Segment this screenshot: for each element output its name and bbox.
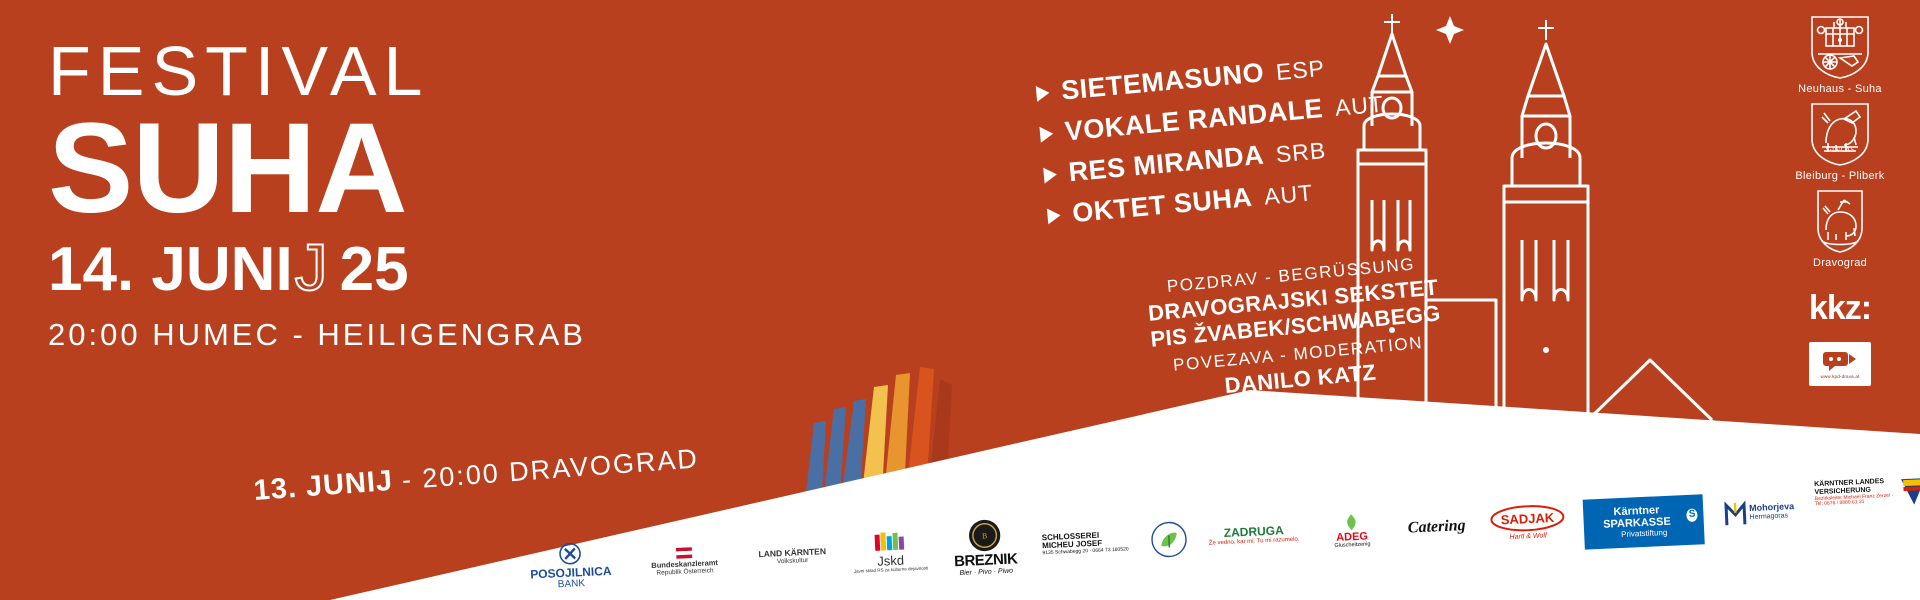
venue-line: 20:00 HUMEC - HEILIGENGRAB (48, 317, 668, 353)
sponsor-logo[interactable]: ZADRUGA Že vedno, kar mi. Tu mi razumelo… (1205, 504, 1304, 566)
artist-country: SRB (1275, 137, 1328, 168)
austria-flag-icon (676, 547, 692, 559)
sponsor-sub: Gluscheitzenig (1334, 543, 1370, 551)
sponsor-sub: Že vedno, kar mi. Tu mi razumelo. (1209, 537, 1300, 548)
second-event-date-bold: 13. JUNIJ (253, 465, 395, 508)
sponsor-sub: Volkskultur (777, 557, 809, 565)
sponsor-sub: 9135 Schwabegg 20 · 0664 73 160520 (1042, 547, 1128, 556)
sponsor-logo[interactable]: B BREZNIK Bier · Pivo · Piwo (941, 517, 1030, 579)
sponsor-logo[interactable]: SADJAK Hartl & Wolf (1484, 492, 1571, 554)
brewery-seal-icon: B (967, 518, 1002, 553)
cooperative-leaf-icon (1150, 521, 1188, 559)
coat-of-arms-bleiburg-icon: S·LVCAS (1808, 101, 1872, 167)
sponsor-logo[interactable]: POSOJILNICA BANK (517, 535, 624, 598)
main-date-year: 25 (340, 239, 409, 301)
sponsor-sub: Hartl & Wolf (1509, 533, 1547, 542)
festival-name: SUHA (48, 110, 668, 228)
speech-bubble-icon (1823, 350, 1857, 372)
crest-caption: Dravograd (1813, 257, 1867, 269)
jskd-colorbars-icon (874, 531, 905, 552)
triangle-right-icon (1036, 84, 1050, 101)
artist-name: SIETEMASUNO (1060, 57, 1266, 106)
triangle-right-icon (1047, 207, 1061, 224)
sponsor-sub: Javni sklad RS za kulturne dejavnosti (854, 566, 929, 574)
festival-poster: FESTIVAL SUHA 14. JUNIJ25 20:00 HUMEC - … (0, 0, 1920, 600)
insurance-chevron-icon (1900, 476, 1920, 507)
lineup-list: SIETEMASUNO ESP VOKALE RANDALE AUT RES M… (1035, 47, 1393, 242)
sparkasse-s-icon: S (1687, 509, 1698, 522)
sponsor-logo[interactable]: ADEG Gluscheitzenig (1315, 501, 1390, 562)
kpd-url: www.kpd-drava.at (1821, 374, 1860, 379)
sponsor-logo[interactable]: Catering (1400, 497, 1473, 558)
sadjak-oval-icon: SADJAK (1490, 504, 1565, 533)
sponsor-logo[interactable] (1145, 509, 1194, 569)
sponsor-logo[interactable]: Bundeskanzleramt Republik Österreich (635, 530, 734, 592)
coat-of-arms-neuhaus-icon (1808, 14, 1872, 80)
svg-text:B: B (982, 531, 988, 540)
kkz-logo: kkz: (1809, 289, 1871, 328)
crest-caption: Neuhaus - Suha (1798, 83, 1882, 95)
crest-caption: Bleiburg - Pliberk (1795, 170, 1884, 182)
sponsor-name: Catering (1407, 517, 1466, 537)
sponsor-sub: Hermagoras (1749, 512, 1794, 522)
sponsor-logo[interactable]: Mohorjeva Hermagoras (1716, 482, 1803, 544)
artist-country: AUT (1263, 179, 1314, 210)
main-date: 14. JUNIJ25 (48, 234, 668, 301)
svg-text:S·LVCAS: S·LVCAS (1826, 146, 1855, 154)
sponsor-sub: BANK (558, 579, 586, 591)
crest-neuhaus: Neuhaus - Suha (1798, 14, 1882, 95)
svg-text:SADJAK: SADJAK (1500, 510, 1555, 527)
coat-of-arms-dravograd-icon (1814, 188, 1866, 254)
sponsor-logo[interactable]: KÄRNTNER LANDES VERSICHERUNG Bezirksleit… (1814, 476, 1920, 539)
triangle-right-icon (1039, 125, 1053, 142)
kpd-logo: www.kpd-drava.at (1809, 342, 1871, 386)
credits-block: POZDRAV - BEGRÜSSUNG DRAVOGRAJSKI SEKSTE… (1145, 252, 1447, 406)
sponsor-sub: Bezirksleiter Michael Franz Zerzel · Tel… (1815, 493, 1898, 508)
artist-country: ESP (1275, 55, 1326, 86)
title-block: FESTIVAL SUHA 14. JUNIJ25 20:00 HUMEC - … (48, 36, 668, 353)
sponsor-logo[interactable]: SCHLOSSEREI MICHEU JOSEF 9135 Schwabegg … (1041, 512, 1134, 574)
sponsor-logo[interactable]: Kärntner SPARKASSE S Privatstiftung (1583, 494, 1705, 549)
sponsor-logo[interactable]: LAND KÄRNTEN Volkskultur (745, 526, 840, 588)
sponsor-sub: Republik Österreich (656, 567, 713, 577)
bank-x-icon (559, 542, 582, 565)
artist-name: OKTET SUHA (1071, 182, 1254, 229)
artist-country: AUT (1334, 91, 1385, 122)
sponsor-logo[interactable]: Jskd Javni sklad RS za kulturne dejavnos… (851, 521, 930, 582)
crest-bleiburg: S·LVCAS Bleiburg - Pliberk (1795, 101, 1884, 182)
mohorjeva-m-icon (1724, 500, 1747, 527)
date-j-outline: J (293, 234, 330, 300)
triangle-right-icon (1043, 166, 1057, 183)
adeg-icon (1342, 512, 1361, 531)
crest-column: Neuhaus - Suha S·LVCAS Bleiburg - Pliber… (1780, 14, 1900, 386)
sponsor-name: Kärntner SPARKASSE (1589, 504, 1684, 532)
main-date-text: 14. JUNI (48, 239, 293, 301)
crest-dravograd: Dravograd (1813, 188, 1867, 269)
festival-eyebrow: FESTIVAL (48, 36, 668, 106)
sponsor-sub: Privatstiftung (1621, 528, 1668, 539)
artist-name: RES MIRANDA (1067, 140, 1265, 189)
